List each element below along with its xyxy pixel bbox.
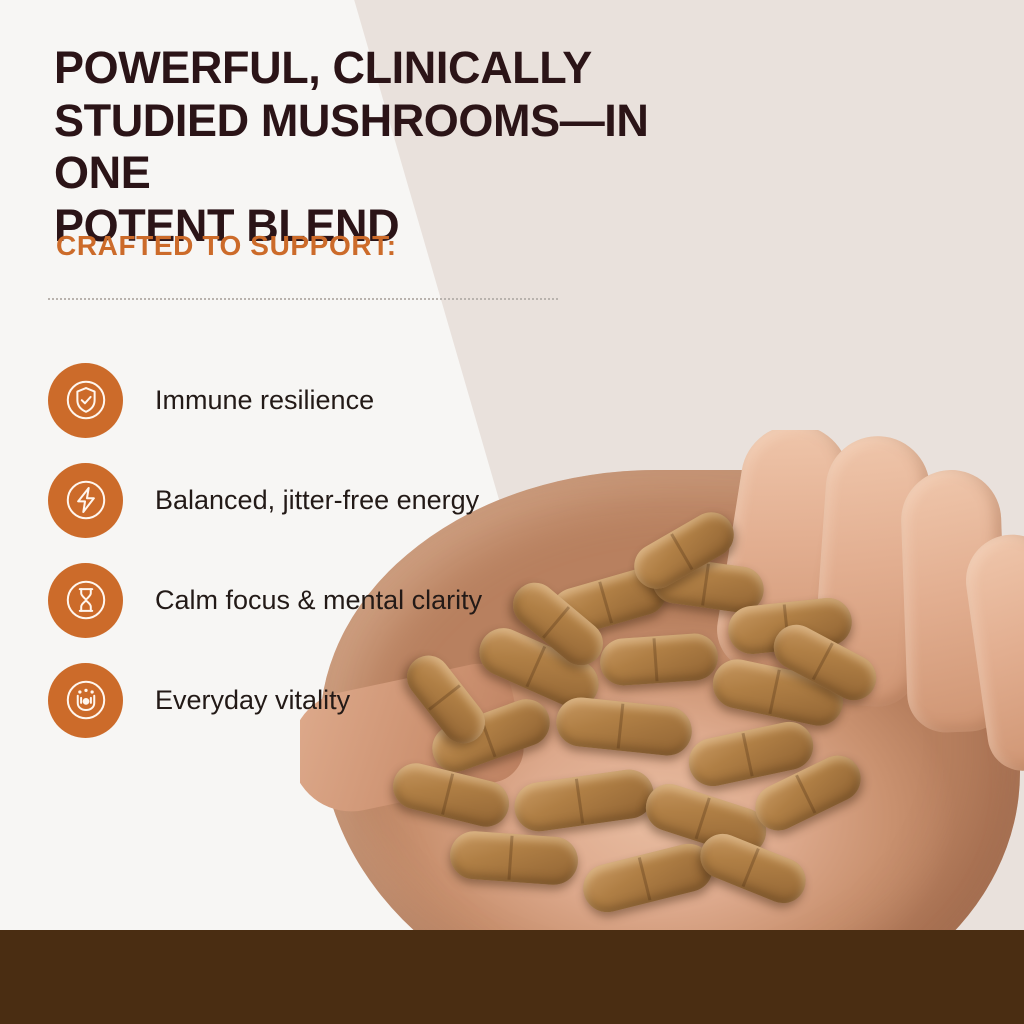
shield-check-icon xyxy=(48,363,123,438)
lightning-bolt-icon xyxy=(48,463,123,538)
list-item-label: Everyday vitality xyxy=(155,684,350,716)
headline-line-1: POWERFUL, CLINICALLY xyxy=(54,42,654,95)
capsule xyxy=(599,632,720,687)
dotted-divider xyxy=(48,298,558,300)
page-title: POWERFUL, CLINICALLY STUDIED MUSHROOMS—I… xyxy=(54,42,654,253)
list-item-label: Calm focus & mental clarity xyxy=(155,584,482,616)
benefits-list: Immune resilience Balanced, jitter-free … xyxy=(48,350,608,750)
hourglass-icon xyxy=(48,563,123,638)
headline-line-2: STUDIED MUSHROOMS—IN ONE xyxy=(54,95,654,200)
list-item: Immune resilience xyxy=(48,350,608,450)
list-item: Calm focus & mental clarity xyxy=(48,550,608,650)
product-benefit-banner: POWERFUL, CLINICALLY STUDIED MUSHROOMS—I… xyxy=(0,0,1024,1024)
list-item-label: Immune resilience xyxy=(155,384,374,416)
list-item: Everyday vitality xyxy=(48,650,608,750)
capsule xyxy=(578,839,718,918)
capsule xyxy=(448,830,579,887)
bottom-brown-bar xyxy=(0,930,1024,1024)
list-item-label: Balanced, jitter-free energy xyxy=(155,484,479,516)
list-item: Balanced, jitter-free energy xyxy=(48,450,608,550)
subheading: CRAFTED TO SUPPORT: xyxy=(56,230,397,262)
hands-vitality-icon xyxy=(48,663,123,738)
capsule xyxy=(511,766,656,834)
